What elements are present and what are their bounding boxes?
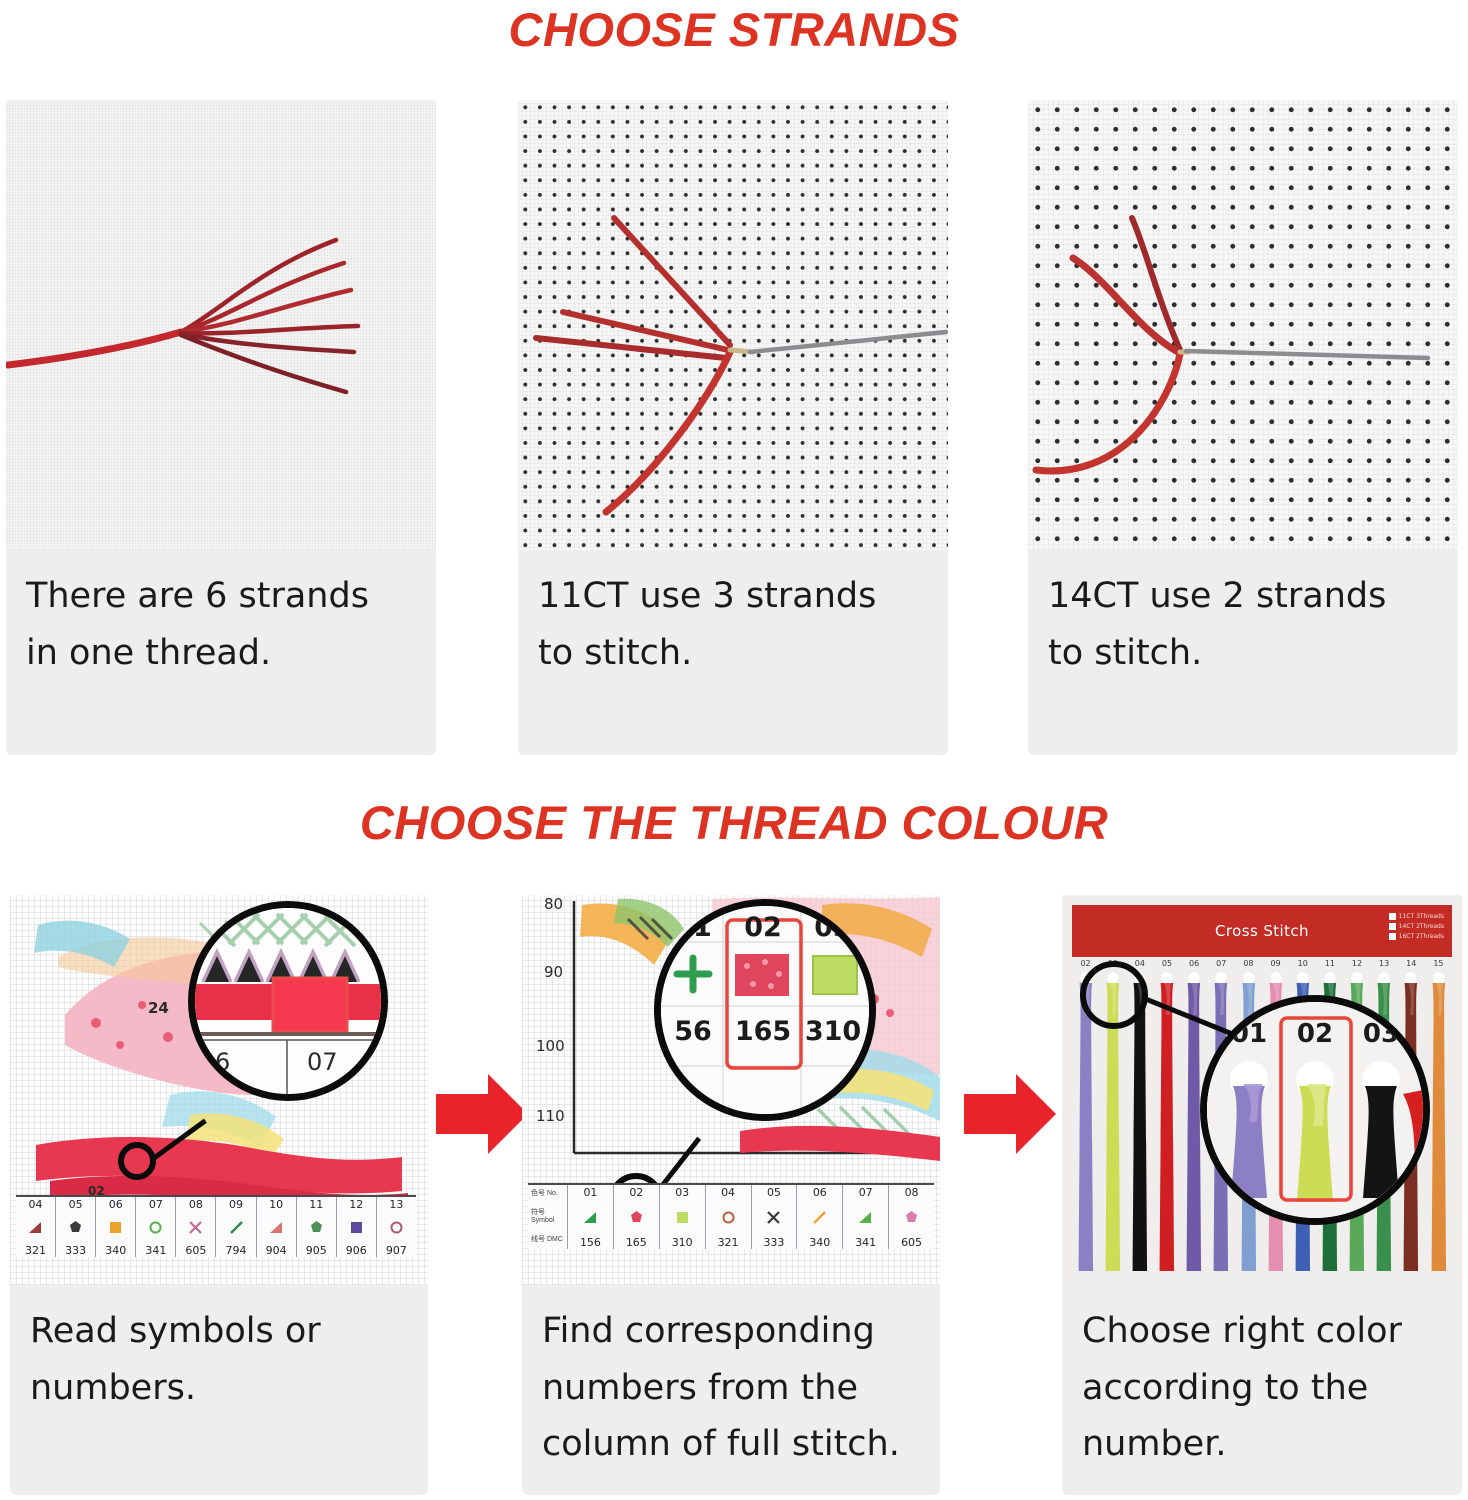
legend-code: 01 bbox=[583, 1187, 597, 1198]
skein-number-label: 13 bbox=[1371, 959, 1398, 968]
legend-table-numbers: 色号 No.符号 Symbol线号 DMC0115602165033100432… bbox=[528, 1183, 934, 1249]
legend-code: 08 bbox=[189, 1199, 203, 1210]
legend-dmc-number: 605 bbox=[185, 1245, 206, 1256]
legend-code: 08 bbox=[905, 1187, 919, 1198]
legend-dmc-number: 905 bbox=[306, 1245, 327, 1256]
thread-skein[interactable] bbox=[1428, 971, 1450, 1271]
magnified-stitches: 6 07 bbox=[195, 908, 381, 1094]
legend-code: 13 bbox=[389, 1199, 403, 1210]
caption-11ct: 11CT use 3 strands to stitch. bbox=[518, 550, 948, 755]
legend-symbol-icon bbox=[108, 1220, 123, 1235]
thread-card-title: Cross Stitch bbox=[1215, 922, 1309, 940]
skein-number-label: 05 bbox=[1153, 959, 1180, 968]
legend-row-label: 符号 Symbol bbox=[531, 1209, 567, 1225]
thread-six-strands-illustration bbox=[6, 100, 436, 550]
legend-code: 12 bbox=[349, 1199, 363, 1210]
thread-option-label: 16CT 2Threads bbox=[1399, 933, 1444, 940]
skein-number-label: 09 bbox=[1262, 959, 1289, 968]
chart-cell-number-24: 24 bbox=[148, 999, 169, 1017]
infographic-page: CHOOSE STRANDS There are 6 strands in on… bbox=[0, 0, 1468, 1500]
legend-dmc-number: 341 bbox=[855, 1237, 876, 1248]
legend-cell: 13907 bbox=[377, 1197, 416, 1257]
legend-symbol-icon bbox=[28, 1220, 43, 1235]
legend-row-label: 色号 No. bbox=[531, 1190, 558, 1198]
legend-dmc-number: 321 bbox=[25, 1245, 46, 1256]
legend-symbol-icon bbox=[904, 1210, 919, 1225]
magnified-code-01: 01 bbox=[674, 912, 712, 943]
legend-cell: 07341 bbox=[136, 1197, 176, 1257]
legend-symbol-icon bbox=[309, 1220, 324, 1235]
legend-cell: 02165 bbox=[614, 1185, 660, 1249]
card-11ct: 11CT use 3 strands to stitch. bbox=[518, 100, 948, 755]
caption-choose-colour: Choose right color according to the numb… bbox=[1062, 1285, 1462, 1495]
thread-count-options: 11CT 3Threads 14CT 2Threads 16CT 2Thread… bbox=[1389, 913, 1444, 943]
axis-tick-80: 80 bbox=[544, 895, 563, 913]
axis-tick-110: 110 bbox=[536, 1107, 565, 1125]
legend-cell: 01156 bbox=[568, 1185, 614, 1249]
photo-pattern-chart-numbers: 80 90 100 110 bbox=[522, 895, 940, 1285]
checkbox-icon[interactable] bbox=[1389, 923, 1396, 930]
legend-code: 04 bbox=[29, 1199, 43, 1210]
right-arrow-icon-1 bbox=[434, 1068, 530, 1160]
skein-number-label: 15 bbox=[1425, 959, 1452, 968]
caption-text: 14CT use 2 strands to stitch. bbox=[1028, 550, 1458, 681]
skein-number-label: 11 bbox=[1316, 959, 1343, 968]
legend-cell: 05333 bbox=[56, 1197, 96, 1257]
skein-number-label: 07 bbox=[1208, 959, 1235, 968]
legend-symbol-icon bbox=[629, 1210, 644, 1225]
legend-symbol-icon bbox=[389, 1220, 404, 1235]
legend-row-label: 线号 DMC bbox=[531, 1236, 563, 1244]
card-choose-colour: Cross Stitch 11CT 3Threads 14CT 2Threads… bbox=[1062, 895, 1462, 1495]
card-read-symbols: 24 02 bbox=[10, 895, 428, 1495]
legend-code: 03 bbox=[675, 1187, 689, 1198]
legend-cell: 07341 bbox=[843, 1185, 889, 1249]
legend-symbol-icon bbox=[675, 1210, 690, 1225]
skein-number-label: 14 bbox=[1398, 959, 1425, 968]
legend-code: 11 bbox=[309, 1199, 323, 1210]
thread-option[interactable]: 16CT 2Threads bbox=[1389, 933, 1444, 940]
thread-option[interactable]: 11CT 3Threads bbox=[1389, 913, 1444, 920]
caption-text: Choose right color according to the numb… bbox=[1062, 1285, 1462, 1473]
magnifier-lens-numbers: 01 02 03 56 165 310 bbox=[654, 899, 876, 1121]
legend-symbol-icon bbox=[583, 1210, 598, 1225]
page-title-choose-strands: CHOOSE STRANDS bbox=[0, 2, 1468, 57]
magnified-dmc-56: 56 bbox=[674, 1016, 712, 1047]
legend-symbol-icon bbox=[229, 1220, 244, 1235]
needle-three-strands-illustration bbox=[518, 100, 948, 550]
legend-cell: 06340 bbox=[96, 1197, 136, 1257]
caption-text: There are 6 strands in one thread. bbox=[6, 550, 436, 681]
thread-option-label: 14CT 2Threads bbox=[1399, 923, 1444, 930]
legend-dmc-number: 310 bbox=[672, 1237, 693, 1248]
legend-dmc-number: 321 bbox=[718, 1237, 739, 1248]
card-find-numbers: 80 90 100 110 bbox=[522, 895, 940, 1495]
legend-symbol-icon bbox=[812, 1210, 827, 1225]
legend-dmc-number: 340 bbox=[809, 1237, 830, 1248]
legend-symbol-icon bbox=[721, 1210, 736, 1225]
legend-dmc-number: 906 bbox=[346, 1245, 367, 1256]
caption-text: 11CT use 3 strands to stitch. bbox=[518, 550, 948, 681]
photo-11ct-aida bbox=[518, 100, 948, 550]
legend-dmc-number: 156 bbox=[580, 1237, 601, 1248]
legend-cell: 03310 bbox=[660, 1185, 706, 1249]
legend-cell: 12906 bbox=[337, 1197, 377, 1257]
skein-number-label: 12 bbox=[1343, 959, 1370, 968]
photo-14ct-aida bbox=[1028, 100, 1458, 550]
legend-symbol-icon bbox=[858, 1210, 873, 1225]
needle-two-strands-illustration bbox=[1028, 100, 1458, 550]
legend-code: 02 bbox=[629, 1187, 643, 1198]
page-title-choose-thread-colour: CHOOSE THE THREAD COLOUR bbox=[0, 795, 1468, 850]
legend-code: 05 bbox=[767, 1187, 781, 1198]
magnifier-lens-symbols: 6 07 bbox=[188, 901, 388, 1101]
skein-number-label: 10 bbox=[1289, 959, 1316, 968]
caption-six-strands: There are 6 strands in one thread. bbox=[6, 550, 436, 755]
legend-dmc-number: 904 bbox=[266, 1245, 287, 1256]
checkbox-icon[interactable] bbox=[1389, 913, 1396, 920]
legend-code: 07 bbox=[149, 1199, 163, 1210]
legend-symbol-icon bbox=[269, 1220, 284, 1235]
legend-dmc-number: 333 bbox=[763, 1237, 784, 1248]
magnifier-lens-skeins: 01 02 03 bbox=[1200, 995, 1430, 1225]
axis-tick-100: 100 bbox=[536, 1037, 565, 1055]
thread-option-label: 11CT 3Threads bbox=[1399, 913, 1444, 920]
magnifier-focus-circle bbox=[1080, 961, 1148, 1029]
card-six-strands: There are 6 strands in one thread. bbox=[6, 100, 436, 755]
skein-number-label: 08 bbox=[1235, 959, 1262, 968]
legend-symbol-icon bbox=[188, 1220, 203, 1235]
legend-cell: 05333 bbox=[752, 1185, 798, 1249]
caption-text: Find corresponding numbers from the colu… bbox=[522, 1285, 940, 1473]
legend-symbol-icon bbox=[68, 1220, 83, 1235]
legend-dmc-number: 165 bbox=[626, 1237, 647, 1248]
legend-dmc-number: 333 bbox=[65, 1245, 86, 1256]
card-14ct: 14CT use 2 strands to stitch. bbox=[1028, 100, 1458, 755]
thread-card-header: Cross Stitch 11CT 3Threads 14CT 2Threads… bbox=[1072, 905, 1452, 957]
magnified-label-left: 6 bbox=[215, 1048, 230, 1076]
magnifier-focus-circle bbox=[118, 1142, 156, 1180]
magnified-skein-code-01: 01 bbox=[1231, 1019, 1267, 1049]
magnified-code-03: 03 bbox=[814, 912, 852, 943]
legend-code: 07 bbox=[859, 1187, 873, 1198]
legend-code: 06 bbox=[813, 1187, 827, 1198]
legend-dmc-number: 794 bbox=[226, 1245, 247, 1256]
photo-pattern-chart-symbols: 24 02 bbox=[10, 895, 428, 1285]
legend-cell: 08605 bbox=[176, 1197, 216, 1257]
legend-code: 04 bbox=[721, 1187, 735, 1198]
photo-thread-card: Cross Stitch 11CT 3Threads 14CT 2Threads… bbox=[1062, 895, 1462, 1285]
caption-find-numbers: Find corresponding numbers from the colu… bbox=[522, 1285, 940, 1495]
magnified-label-right: 07 bbox=[307, 1048, 338, 1076]
legend-code: 06 bbox=[109, 1199, 123, 1210]
legend-code: 10 bbox=[269, 1199, 283, 1210]
axis-tick-90: 90 bbox=[544, 963, 563, 981]
legend-symbol-icon bbox=[148, 1220, 163, 1235]
magnified-dmc-310: 310 bbox=[805, 1016, 861, 1047]
legend-dmc-number: 907 bbox=[386, 1245, 407, 1256]
legend-table-symbols: 0432105333063400734108605097941090411905… bbox=[16, 1195, 416, 1257]
legend-cell: 11905 bbox=[297, 1197, 337, 1257]
legend-symbol-icon bbox=[349, 1220, 364, 1235]
legend-cell: 09794 bbox=[216, 1197, 256, 1257]
magnified-code-02: 02 bbox=[744, 912, 782, 943]
legend-cell: 04321 bbox=[16, 1197, 56, 1257]
legend-row-labels: 色号 No.符号 Symbol线号 DMC bbox=[528, 1185, 568, 1249]
checkbox-icon[interactable] bbox=[1389, 933, 1396, 940]
magnified-dmc-165: 165 bbox=[735, 1016, 791, 1047]
right-arrow-icon-2 bbox=[962, 1068, 1058, 1160]
legend-symbol-icon bbox=[766, 1210, 781, 1225]
photo-six-strands bbox=[6, 100, 436, 550]
magnified-skein-code-02: 02 bbox=[1297, 1019, 1333, 1049]
caption-read-symbols: Read symbols or numbers. bbox=[10, 1285, 428, 1495]
legend-dmc-number: 605 bbox=[901, 1237, 922, 1248]
thread-option[interactable]: 14CT 2Threads bbox=[1389, 923, 1444, 930]
legend-cell: 06340 bbox=[797, 1185, 843, 1249]
skein-number-label: 06 bbox=[1181, 959, 1208, 968]
legend-code: 05 bbox=[69, 1199, 83, 1210]
thread-skein[interactable] bbox=[1156, 971, 1178, 1271]
legend-cell: 04321 bbox=[706, 1185, 752, 1249]
magnified-skein-code-03: 03 bbox=[1363, 1019, 1399, 1049]
legend-code: 09 bbox=[229, 1199, 243, 1210]
caption-text: Read symbols or numbers. bbox=[10, 1285, 428, 1416]
caption-14ct: 14CT use 2 strands to stitch. bbox=[1028, 550, 1458, 755]
legend-dmc-number: 341 bbox=[145, 1245, 166, 1256]
legend-cell: 10904 bbox=[257, 1197, 297, 1257]
legend-cell: 08605 bbox=[889, 1185, 934, 1249]
legend-dmc-number: 340 bbox=[105, 1245, 126, 1256]
